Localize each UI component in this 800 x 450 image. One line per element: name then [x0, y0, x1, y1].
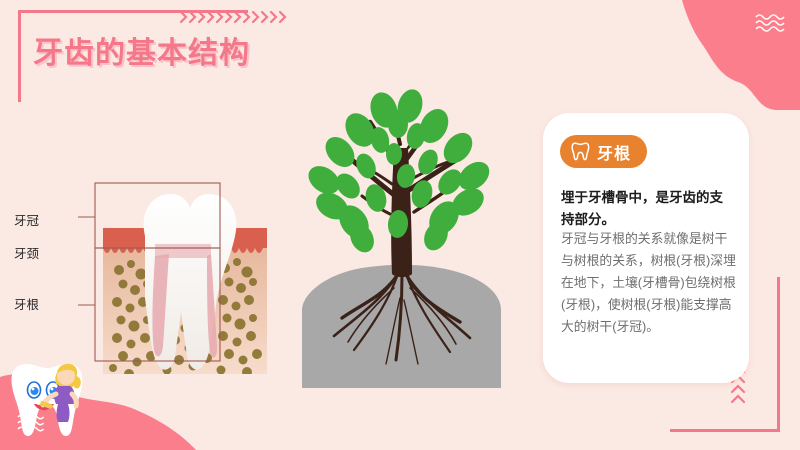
- label-crown: 牙冠: [14, 210, 39, 229]
- card-body-text: 牙冠与牙根的关系就像是树干与树根的关系，树根(牙根)深埋在地下，土壤(牙槽骨)包…: [561, 228, 737, 338]
- pink-wave-blob-top-right: [660, 0, 800, 110]
- badge-root: 牙根: [560, 135, 647, 168]
- chevrons-right-icon: [178, 8, 288, 26]
- tooth-mascot-with-girl: [4, 342, 90, 442]
- badge-label: 牙根: [597, 140, 631, 164]
- tree-with-roots-illustration: [298, 88, 513, 388]
- page-title: 牙齿的基本结构: [33, 28, 250, 72]
- tree-leaves: [303, 88, 495, 256]
- label-root: 牙根: [14, 294, 39, 313]
- card-heading: 埋于牙槽骨中，是牙齿的支持部分。: [561, 187, 733, 231]
- label-neck: 牙颈: [14, 243, 39, 262]
- info-card: 牙根 埋于牙槽骨中，是牙齿的支持部分。 牙冠与牙根的关系就像是树干与树根的关系，…: [543, 113, 749, 383]
- slide-root: 牙齿的基本结构: [0, 0, 800, 450]
- tooth-icon: [571, 141, 590, 162]
